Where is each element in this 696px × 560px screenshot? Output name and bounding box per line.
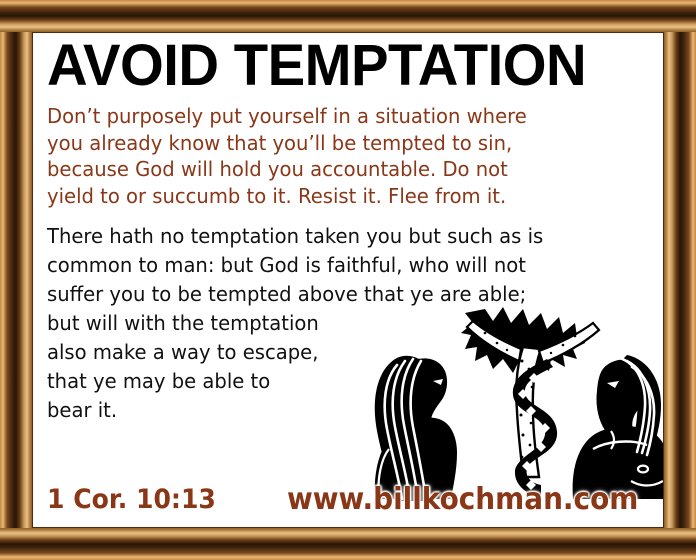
frame-top-edge	[0, 0, 696, 32]
poster-frame: AVOID TEMPTATION Don’t purposely put you…	[0, 0, 696, 560]
frame-bottom-edge	[0, 528, 696, 560]
website-url[interactable]: www.billkochman.com	[287, 482, 638, 517]
scripture-citation: 1 Cor. 10:13	[47, 484, 216, 515]
page-title: AVOID TEMPTATION	[47, 33, 631, 97]
poster-content: AVOID TEMPTATION Don’t purposely put you…	[33, 33, 663, 527]
exhortation-text: Don’t purposely put yourself in a situat…	[47, 103, 622, 209]
scripture-text: There hath no temptation taken you but s…	[47, 222, 622, 425]
footer: 1 Cor. 10:13 www.billkochman.com	[47, 477, 649, 521]
poster-paper: AVOID TEMPTATION Don’t purposely put you…	[32, 32, 664, 528]
